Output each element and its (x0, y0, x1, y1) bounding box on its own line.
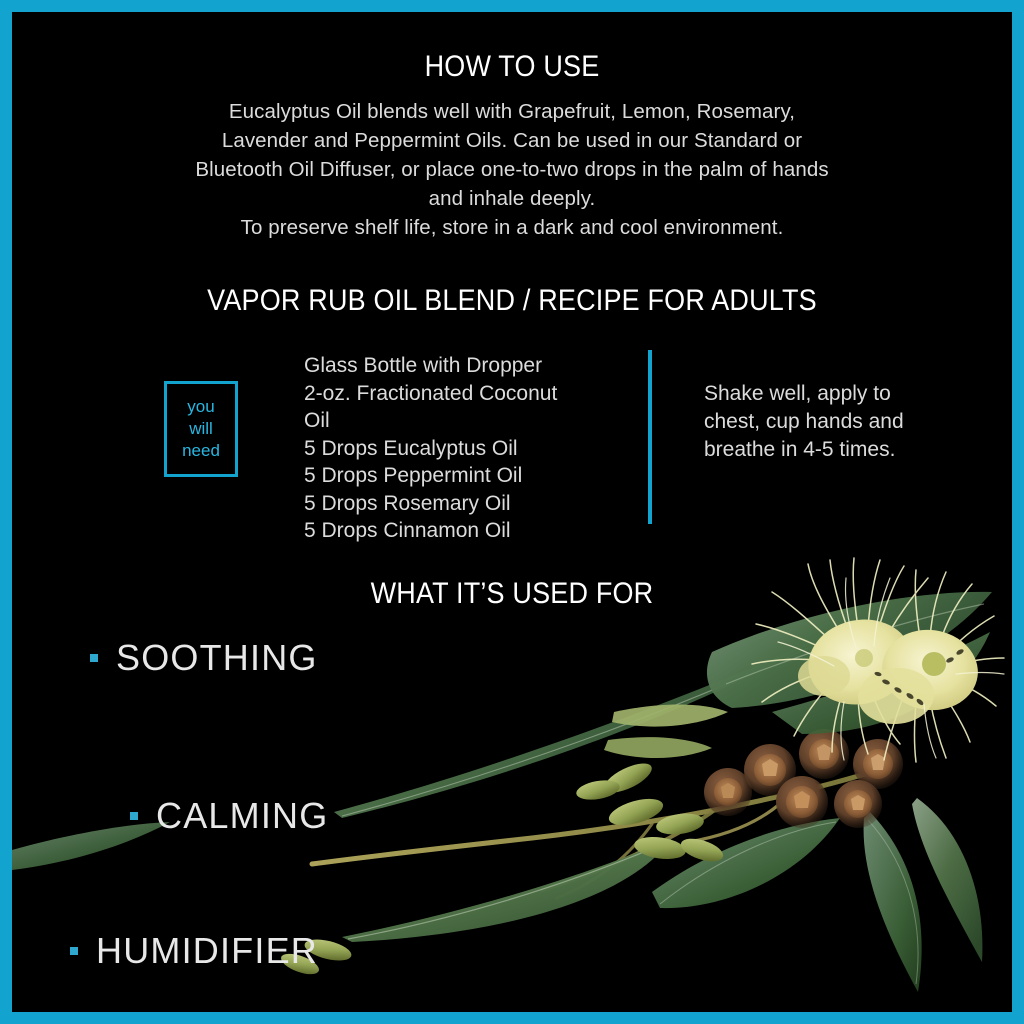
ingredient-line: 2-oz. Fractionated Coconut (304, 380, 634, 408)
poster-frame: HOW TO USE Eucalyptus Oil blends well wi… (0, 0, 1024, 1024)
ingredient-line: 5 Drops Rosemary Oil (304, 490, 634, 518)
use-list-item: HUMIDIFIER (70, 930, 318, 972)
use-list-item: SOOTHING (90, 637, 318, 679)
how-to-use-paragraph: Eucalyptus Oil blends well with Grapefru… (112, 97, 912, 242)
bullet-square-icon (70, 947, 78, 955)
eucalyptus-blossoms (798, 610, 983, 726)
paragraph-line: To preserve shelf life, store in a dark … (112, 213, 912, 242)
ingredient-line: Glass Bottle with Dropper (304, 352, 634, 380)
paragraph-line: and inhale deeply. (112, 184, 912, 213)
ingredient-line: 5 Drops Cinnamon Oil (304, 517, 634, 545)
badge-line: will (189, 418, 213, 440)
use-list-item: CALMING (130, 795, 328, 837)
eucalyptus-buds (278, 758, 725, 979)
badge-line: need (182, 440, 220, 462)
ingredient-line: 5 Drops Eucalyptus Oil (304, 435, 634, 463)
bullet-square-icon (130, 812, 138, 820)
paragraph-line: Eucalyptus Oil blends well with Grapefru… (112, 97, 912, 126)
you-will-need-badge: you will need (164, 381, 238, 477)
recipe-directions: Shake well, apply to chest, cup hands an… (704, 380, 904, 464)
what-its-used-for-title: WHAT IT’S USED FOR (62, 577, 962, 611)
use-label: HUMIDIFIER (96, 930, 318, 972)
badge-line: you (187, 396, 214, 418)
bullet-square-icon (90, 654, 98, 662)
recipe-title: VAPOR RUB OIL BLEND / RECIPE FOR ADULTS (62, 284, 962, 318)
use-label: SOOTHING (116, 637, 318, 679)
vertical-divider (648, 350, 652, 524)
ingredient-line: 5 Drops Peppermint Oil (304, 462, 634, 490)
paragraph-line: Lavender and Peppermint Oils. Can be use… (112, 126, 912, 155)
ingredient-list: Glass Bottle with Dropper 2-oz. Fraction… (304, 352, 634, 545)
use-label: CALMING (156, 795, 328, 837)
poster-canvas: HOW TO USE Eucalyptus Oil blends well wi… (12, 12, 1012, 1012)
ingredient-line: Oil (304, 407, 634, 435)
how-to-use-title: HOW TO USE (62, 50, 962, 84)
eucalyptus-gum-nuts (704, 729, 903, 828)
paragraph-line: Bluetooth Oil Diffuser, or place one-to-… (112, 155, 912, 184)
